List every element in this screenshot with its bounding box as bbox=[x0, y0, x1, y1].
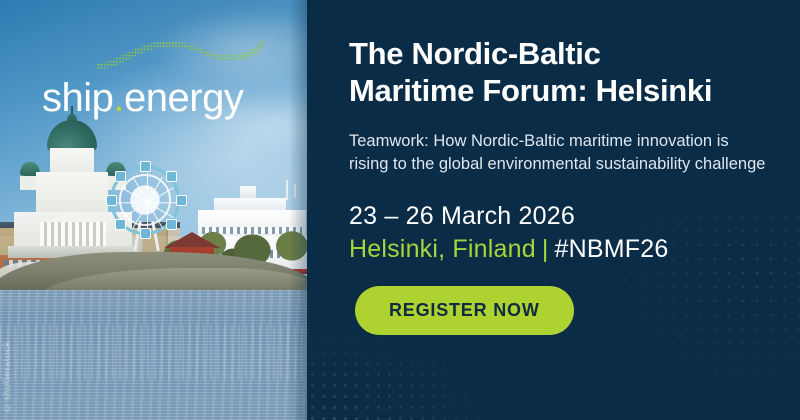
event-promo-banner: ship.energy ©shutterstock The Nordic-Bal… bbox=[0, 0, 800, 420]
house-roof bbox=[164, 232, 220, 248]
event-location: Helsinki, Finland bbox=[349, 235, 536, 263]
hero-photo-helsinki: ship.energy ©shutterstock bbox=[0, 0, 307, 420]
wheel-cabin bbox=[140, 161, 151, 172]
event-dates: 23 – 26 March 2026 bbox=[349, 201, 770, 231]
ship-energy-logo: ship.energy bbox=[42, 36, 262, 122]
event-title-line1: The Nordic-Baltic bbox=[349, 36, 601, 71]
wheel-cabin bbox=[115, 171, 126, 182]
logo-text-energy: energy bbox=[124, 76, 243, 120]
wheel-cabin bbox=[176, 195, 187, 206]
logo-wordmark: ship.energy bbox=[42, 78, 243, 118]
stock-photo-watermark: ©shutterstock bbox=[2, 341, 13, 412]
register-now-button[interactable]: REGISTER NOW bbox=[355, 286, 574, 335]
ship-mast bbox=[286, 180, 288, 200]
wheel-cabin bbox=[115, 219, 126, 230]
logo-text-ship: ship bbox=[42, 76, 113, 120]
location-separator: | bbox=[536, 235, 555, 263]
wheel-spoke bbox=[147, 173, 148, 233]
event-hashtag: #NBMF26 bbox=[555, 235, 669, 263]
wheel-cabin bbox=[106, 195, 117, 206]
dotted-wave-icon bbox=[94, 36, 266, 76]
event-title: The Nordic-BalticMaritime Forum: Helsink… bbox=[349, 36, 770, 110]
event-subtitle: Teamwork: How Nordic-Baltic maritime inn… bbox=[349, 130, 769, 177]
logo-dot-icon: . bbox=[113, 76, 124, 120]
wheel-spoke bbox=[118, 202, 178, 203]
cathedral-columns bbox=[40, 222, 106, 246]
event-title-line2: Maritime Forum: Helsinki bbox=[349, 73, 712, 108]
wheel-cabin bbox=[166, 171, 177, 182]
event-location-line: Helsinki, Finland|#NBMF26 bbox=[349, 234, 770, 264]
ship-mast bbox=[294, 184, 296, 198]
content-panel: The Nordic-BalticMaritime Forum: Helsink… bbox=[307, 0, 800, 420]
water-reflection bbox=[0, 325, 307, 380]
